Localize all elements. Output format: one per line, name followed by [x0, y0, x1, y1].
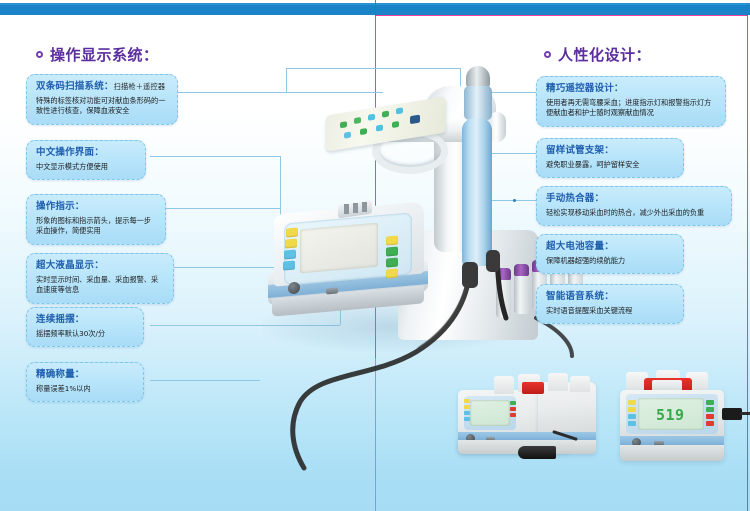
callout-remote-control-design[interactable]: 精巧遥控器设计： 使用者再无需弯腰采血；进度指示灯和报警指示灯方便献血者和护士随… — [536, 76, 726, 127]
callout-title: 连续摇摆： — [36, 314, 134, 327]
callout-body: 保障机器超强的续航能力 — [546, 256, 674, 266]
leader-line-6 — [150, 380, 260, 381]
callout-body: 中文显示模式方便使用 — [36, 162, 136, 172]
callout-title: 手动热合器： — [546, 193, 722, 206]
bullet-dot-icon — [36, 51, 43, 58]
callout-title: 精确称量： — [36, 369, 134, 382]
photo1-barcode-scanner-icon — [518, 446, 556, 459]
photo1-button-6 — [510, 407, 516, 411]
photo2-cord — [740, 412, 750, 415]
console-clamp-tooth-3 — [362, 202, 367, 212]
photo1-screen — [470, 400, 510, 426]
callout-body: 称量误差1%以内 — [36, 384, 134, 394]
console-clamp-tooth-1 — [344, 204, 349, 214]
left-section-heading: 操作显示系统： — [36, 44, 159, 65]
sample-tube-2 — [514, 272, 529, 314]
console-button-yellow-1[interactable] — [286, 227, 298, 237]
console-port — [326, 287, 338, 294]
callout-title: 精巧遥控器设计： — [546, 83, 716, 96]
callout-body: 形象的图标和指示箭头，提示每一步采血操作，简便实用 — [36, 216, 156, 237]
collection-tube — [462, 118, 492, 266]
bullet-dot-icon — [544, 51, 551, 58]
photo2-button-1 — [628, 400, 636, 405]
callout-barcode-system[interactable]: 双条码扫描系统：扫描枪＋遥控器 特殊的标签核对功能可对献血条形码的一致性进行核查… — [26, 74, 178, 125]
photo2-power-plug — [722, 408, 742, 420]
callout-body: 特殊的标签核对功能可对献血条形码的一致性进行核查，保障血液安全 — [36, 96, 168, 117]
guide-line-vertical-lower — [375, 358, 376, 511]
remote-button-cyan-4[interactable] — [376, 124, 383, 131]
photo2-base — [620, 445, 724, 461]
callout-body: 摇摆频率默认30次/分 — [36, 329, 134, 339]
callout-title: 双条码扫描系统：扫描枪＋遥控器 — [36, 81, 168, 94]
callout-precise-weighing[interactable]: 精确称量： 称量误差1%以内 — [26, 362, 144, 402]
callout-large-lcd[interactable]: 超大液晶显示： 实时显示时间、采血量、采血报警、采血速度等信息 — [26, 253, 174, 304]
photo1-button-3 — [464, 411, 470, 415]
callout-sample-tube-rack[interactable]: 留样试管支架： 避免职业暴露，呵护留样安全 — [536, 138, 684, 178]
callout-title: 留样试管支架： — [546, 145, 674, 158]
console-button-cyan-1[interactable] — [284, 249, 296, 259]
photo1-button-4 — [464, 417, 470, 421]
callout-body: 避免职业暴露，呵护留样安全 — [546, 160, 674, 170]
callout-battery-capacity[interactable]: 超大电池容量： 保障机器超强的续航能力 — [536, 234, 684, 274]
callout-body: 实时语音提醒采血关键流程 — [546, 306, 674, 316]
callout-voice-system[interactable]: 智能语音系统： 实时语音提醒采血关键流程 — [536, 284, 684, 324]
photo2-display-value: 519 — [656, 406, 685, 424]
callout-title: 超大电池容量： — [546, 241, 674, 254]
callout-continuous-rocking[interactable]: 连续摇摆： 摇摆频率默认30次/分 — [26, 307, 144, 347]
leader-line-1c — [286, 68, 460, 69]
callout-body: 轻松实现移动采血时的热合，减少外出采血的负重 — [546, 208, 722, 218]
remote-button-cyan-1[interactable] — [368, 114, 375, 121]
right-heading-text: 人性化设计： — [558, 44, 651, 65]
remote-button-cyan-3[interactable] — [344, 132, 351, 139]
remote-button-green-5[interactable] — [392, 121, 399, 128]
remote-button-green-3[interactable] — [382, 111, 389, 118]
photo1-button-5 — [510, 401, 516, 405]
product-photo-angled — [452, 368, 602, 478]
console-button-yellow-4[interactable] — [386, 268, 398, 278]
sample-tube-1 — [496, 276, 511, 318]
remote-button-green-4[interactable] — [360, 128, 367, 135]
console-clamp-tooth-2 — [353, 203, 358, 213]
callout-title: 中文操作界面： — [36, 147, 136, 160]
tube-cap — [466, 66, 490, 88]
console-button-cyan-2[interactable] — [283, 260, 295, 270]
poster-canvas: 操作显示系统： 双条码扫描系统：扫描枪＋遥控器 特殊的标签核对功能可对献血条形码… — [0, 0, 750, 511]
callout-title: 超大液晶显示： — [36, 260, 164, 273]
photo2-button-3 — [628, 414, 636, 419]
leader-line-3 — [150, 208, 280, 209]
sample-tube-cap-1 — [496, 268, 511, 280]
callout-body: 实时显示时间、采血量、采血报警、采血速度等信息 — [36, 275, 164, 296]
tube-neck — [464, 86, 492, 120]
callout-manual-sealer[interactable]: 手动热合器： 轻松实现移动采血时的热合，减少外出采血的负重 — [536, 186, 732, 226]
product-photo-front: 519 — [612, 368, 748, 478]
photo1-blood-bag — [522, 382, 544, 394]
photo1-clip-4 — [570, 376, 590, 392]
photo2-button-6 — [706, 407, 714, 412]
console-lcd-display[interactable] — [300, 223, 378, 274]
remote-button-cyan-2[interactable] — [396, 107, 403, 114]
sample-tube-cap-2 — [514, 264, 529, 276]
right-section-heading: 人性化设计： — [544, 44, 651, 65]
left-heading-text: 操作显示系统： — [50, 44, 159, 65]
photo1-clip-3 — [548, 373, 568, 391]
photo2-button-8 — [706, 421, 714, 426]
photo1-button-1 — [464, 399, 470, 403]
console-button-green-2[interactable] — [386, 257, 398, 267]
callout-body: 使用者再无需弯腰采血；进度指示灯和报警指示灯方便献血者和护士随时观察献血情况 — [546, 98, 716, 119]
device-console — [268, 208, 424, 316]
callout-chinese-ui[interactable]: 中文操作界面： 中文显示模式方便使用 — [26, 140, 146, 180]
console-button-yellow-3[interactable] — [386, 235, 398, 245]
remote-button-green-2[interactable] — [354, 117, 361, 124]
console-button-yellow-2[interactable] — [285, 238, 297, 248]
leader-node-6 — [513, 199, 516, 202]
remote-screen — [410, 115, 420, 125]
leader-line-1b — [286, 68, 287, 92]
photo2-button-7 — [706, 414, 714, 419]
console-button-green-1[interactable] — [386, 246, 398, 256]
photo1-button-2 — [464, 405, 470, 409]
callout-title: 智能语音系统： — [546, 291, 674, 304]
callout-title: 操作指示： — [36, 201, 156, 214]
remote-button-green-1[interactable] — [340, 121, 347, 128]
photo1-button-7 — [510, 413, 516, 417]
leader-line-2 — [150, 156, 280, 157]
leader-line-1 — [150, 92, 383, 93]
callout-operation-guidance[interactable]: 操作指示： 形象的图标和指示箭头，提示每一步采血操作，简便实用 — [26, 194, 166, 245]
photo2-button-4 — [628, 421, 636, 426]
photo2-button-5 — [706, 400, 714, 405]
guide-line-horizontal-top — [375, 15, 748, 16]
photo1-clip-1 — [494, 376, 514, 394]
photo2-button-2 — [628, 407, 636, 412]
